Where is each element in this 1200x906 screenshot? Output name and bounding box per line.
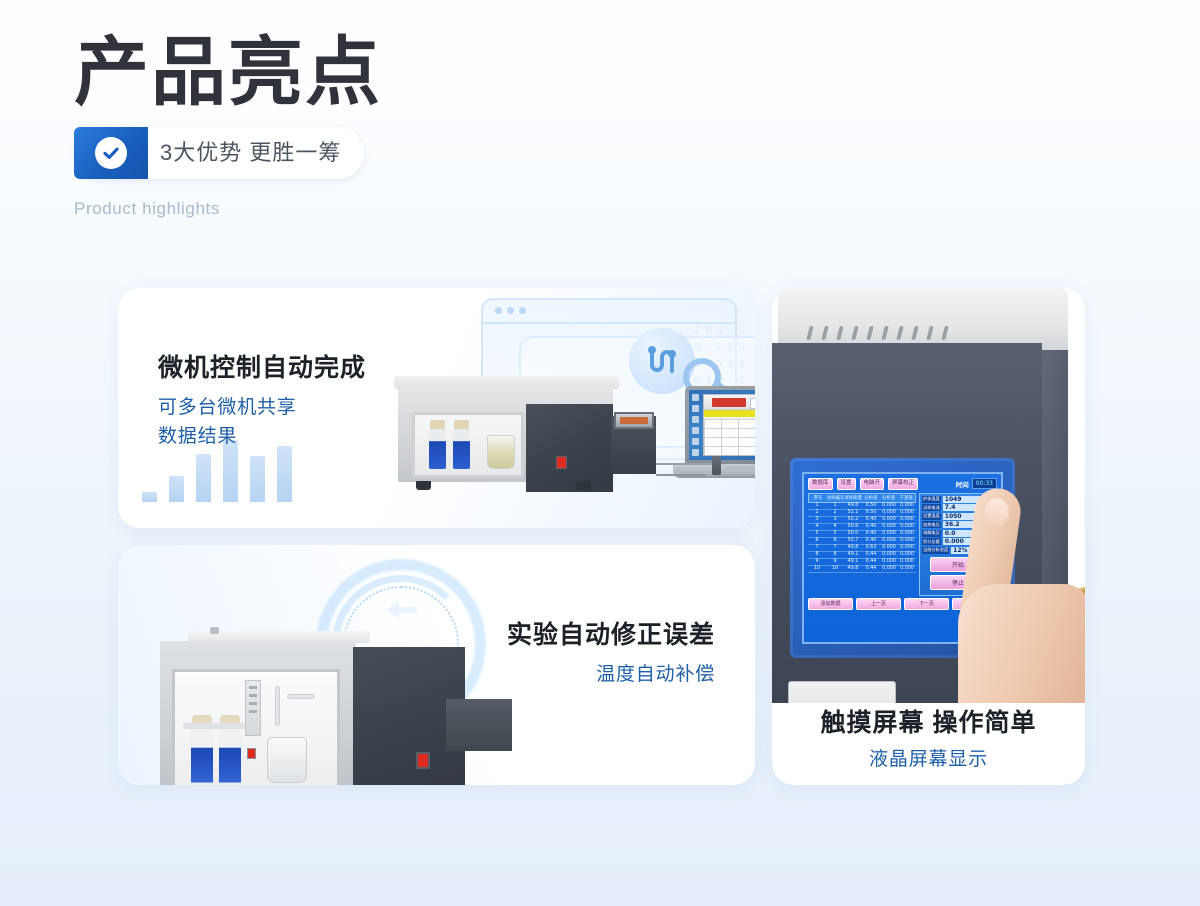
lcd-progress-label: 当前分析进度: [922, 547, 949, 554]
instrument-drawer: [788, 681, 896, 703]
lcd-table-row[interactable]: 9949.10.440.0000.000: [808, 559, 916, 566]
lcd-readout-key: 电解电压: [922, 530, 941, 537]
beaker: [487, 435, 515, 469]
lcd-table-cell: 0.000: [898, 517, 916, 523]
lcd-table-cell: 0.40: [862, 531, 880, 537]
reagent-vial: [191, 727, 213, 785]
lcd-table-cell: 3: [826, 517, 844, 523]
reagent-vial: [219, 727, 241, 785]
lcd-table-cell: 6: [826, 538, 844, 544]
analyzer-machine-photo: [398, 374, 656, 490]
lcd-table-cell: 0.000: [880, 510, 898, 516]
lcd-table-cell: 49.1: [844, 559, 862, 565]
lcd-th-mass: 试样质量: [844, 494, 862, 502]
page-header: 产品亮点 3大优势 更胜一筹 Product highlights: [74, 36, 674, 219]
card-1-heading: 微机控制自动完成: [158, 348, 366, 384]
lcd-table-cell: 0.000: [898, 566, 916, 572]
lcd-table-cell: 49.8: [844, 503, 862, 509]
lcd-button-prev-page[interactable]: 上一页: [856, 598, 901, 610]
lcd-table-cell: 5: [808, 531, 826, 537]
lcd-table-cell: 6: [808, 538, 826, 544]
highlight-card-2[interactable]: 实验自动修正误差 温度自动补偿: [118, 545, 755, 785]
lcd-readout-key: 试样电流: [922, 504, 941, 511]
lcd-table-row[interactable]: 5550.00.400.0000.000: [808, 531, 916, 538]
lcd-table-cell: 2: [826, 510, 844, 516]
lcd-table-cell: 49.8: [844, 545, 862, 551]
lcd-data-table: 序号 试样编号 试样质量 分析值 分析值 干基值 1149.80.500.000…: [808, 493, 916, 596]
lcd-table-cell: 9: [826, 559, 844, 565]
lcd-table-cell: 0.44: [862, 559, 880, 565]
check-circle-icon: [95, 137, 127, 169]
card-3-heading: 触摸屏幕 操作简单: [772, 703, 1085, 739]
page-title: 产品亮点: [74, 36, 674, 111]
laptop-screen: [689, 390, 755, 460]
lcd-th-value2: 分析值: [880, 494, 898, 502]
page-subtitle-english: Product highlights: [74, 199, 674, 219]
lcd-table-cell: 4: [826, 524, 844, 530]
lcd-table-cell: 0.000: [880, 503, 898, 509]
lcd-table-row[interactable]: 7749.80.630.0000.000: [808, 545, 916, 552]
highlight-card-1[interactable]: 101 00 1101 011010 1: [118, 288, 755, 528]
lcd-readout-key: 积分总量: [922, 538, 941, 545]
lcd-table-cell: 49.8: [844, 566, 862, 572]
lcd-button-screen-calibration[interactable]: 屏幕校正: [888, 478, 918, 490]
lcd-readout-key: 设置温度: [922, 513, 941, 520]
lcd-table-row[interactable]: 4450.60.400.0000.000: [808, 524, 916, 531]
lcd-table-cell: 0.000: [880, 517, 898, 523]
lcd-table-cell: 7: [826, 545, 844, 551]
lcd-table-cell: 0.63: [862, 545, 880, 551]
lcd-th-sample: 试样编号: [827, 494, 845, 502]
lcd-th-dry: 干基值: [897, 494, 915, 502]
lcd-table-cell: 0.000: [880, 531, 898, 537]
palm: [958, 584, 1085, 703]
power-indicator-icon: [556, 456, 567, 469]
lcd-button-add-data[interactable]: 添加数据: [808, 598, 853, 610]
lcd-table-cell: 0.000: [898, 552, 916, 558]
lcd-table-row[interactable]: 8849.10.440.0000.000: [808, 552, 916, 559]
card-1-subtitle-line1: 可多台微机共享: [158, 393, 366, 422]
cabinet-side-tray: [446, 699, 512, 751]
lcd-table-cell: 0.44: [862, 552, 880, 558]
lcd-readout-key: 炉体温度: [922, 496, 941, 503]
lcd-table-cell: 50.7: [844, 538, 862, 544]
lcd-table-cell: 0.44: [862, 566, 880, 572]
lcd-table-cell: 0.000: [898, 559, 916, 565]
highlight-badge: 3大优势 更胜一筹: [74, 127, 364, 179]
card-3-subtitle: 液晶屏幕显示: [772, 745, 1085, 774]
lcd-table-cell: 0.40: [862, 517, 880, 523]
lcd-table-cell: 50.6: [844, 524, 862, 530]
machine-dark-panel: [526, 404, 613, 492]
lcd-table-cell: 0.50: [862, 510, 880, 516]
lcd-table-row[interactable]: 101049.80.440.0000.000: [808, 566, 916, 573]
lcd-table-cell: 1: [826, 503, 844, 509]
lcd-table-cell: 50.0: [844, 531, 862, 537]
lcd-table-cell: 49.1: [844, 552, 862, 558]
lcd-table-cell: 0.50: [862, 503, 880, 509]
lcd-table-cell: 0.000: [880, 559, 898, 565]
desktop-icons: [691, 394, 701, 456]
lcd-button-settings[interactable]: 设置: [837, 478, 856, 490]
lcd-table-cell: 50.2: [844, 517, 862, 523]
lcd-table-cell: 10: [808, 566, 826, 572]
machine-sample-tray: [614, 412, 654, 429]
power-indicator-icon: [247, 748, 256, 759]
lcd-table-row[interactable]: 1149.80.500.0000.000: [808, 503, 916, 510]
card-1-subtitle-line2: 数据结果: [158, 422, 366, 451]
vent-slots-icon: [808, 326, 947, 340]
lcd-table-row[interactable]: 6650.70.400.0000.000: [808, 538, 916, 545]
highlight-card-3[interactable]: 数据库 设置 电脑开 屏幕校正 时间 00:33 序号: [772, 288, 1085, 785]
lcd-table-cell: 1: [808, 503, 826, 509]
cable-connector: [712, 456, 721, 475]
lcd-table-cell: 0.40: [862, 538, 880, 544]
lcd-table-cell: 52.1: [844, 510, 862, 516]
lcd-button-pc-on[interactable]: 电脑开: [860, 478, 885, 490]
machine-window: [412, 412, 524, 478]
reagent-vial: [453, 429, 470, 469]
lcd-table-cell: 3: [808, 517, 826, 523]
machine-body: [398, 384, 613, 482]
lcd-table-cell: 0.000: [898, 510, 916, 516]
instrument-hood: [778, 288, 1068, 350]
lcd-table-row[interactable]: 2252.10.500.0000.000: [808, 510, 916, 517]
lcd-table-cell: 0.000: [880, 566, 898, 572]
reagent-vial: [429, 429, 446, 469]
lcd-table-cell: 0.000: [898, 538, 916, 544]
badge-label: 3大优势 更胜一筹: [160, 127, 341, 179]
lcd-table-cell: 0.40: [862, 524, 880, 530]
browser-dots-icon: [495, 307, 526, 314]
lcd-th-value1: 分析值: [862, 494, 880, 502]
instrument-photo: 数据库 设置 电脑开 屏幕校正 时间 00:33 序号: [772, 288, 1085, 703]
lcd-table-cell: 4: [808, 524, 826, 530]
power-switch-icon: [416, 752, 430, 769]
lcd-th-index: 序号: [809, 494, 827, 502]
reaction-flask: [267, 737, 307, 783]
card-2-subtitle: 温度自动补偿: [118, 660, 715, 689]
laptop-lid: [685, 386, 755, 464]
lcd-table-cell: 8: [808, 552, 826, 558]
lcd-table-cell: 0.000: [880, 545, 898, 551]
lcd-table-cell: 7: [808, 545, 826, 551]
lcd-table-cell: 5: [826, 531, 844, 537]
lcd-button-next-page[interactable]: 下一页: [904, 598, 949, 610]
software-window: [703, 394, 755, 456]
lcd-table-cell: 0.000: [898, 531, 916, 537]
lcd-table-cell: 0.000: [880, 538, 898, 544]
lcd-table-cell: 0.000: [898, 524, 916, 530]
hand-finger-photo: [958, 488, 1085, 703]
badge-icon-block: [74, 127, 148, 179]
card-3-text: 触摸屏幕 操作简单 液晶屏幕显示: [772, 703, 1085, 774]
lcd-table-cell: 9: [808, 559, 826, 565]
lcd-table-cell: 0.000: [898, 503, 916, 509]
lcd-table-cell: 0.000: [898, 545, 916, 551]
lcd-table-cell: 2: [808, 510, 826, 516]
lcd-table-header: 序号 试样编号 试样质量 分析值 分析值 干基值: [808, 493, 916, 503]
card-2-text: 实验自动修正误差 温度自动补偿: [118, 615, 715, 689]
lcd-table-cell: 0.000: [880, 524, 898, 530]
card-1-text: 微机控制自动完成 可多台微机共享 数据结果: [158, 348, 366, 452]
lcd-button-database[interactable]: 数据库: [808, 478, 833, 490]
lcd-table-cell: 8: [826, 552, 844, 558]
lcd-table-row[interactable]: 3350.20.400.0000.000: [808, 517, 916, 524]
card-2-heading: 实验自动修正误差: [118, 615, 715, 651]
lcd-table-cell: 10: [826, 566, 844, 572]
lcd-readout-key: 加热电压: [922, 521, 941, 528]
lcd-table-cell: 0.000: [880, 552, 898, 558]
